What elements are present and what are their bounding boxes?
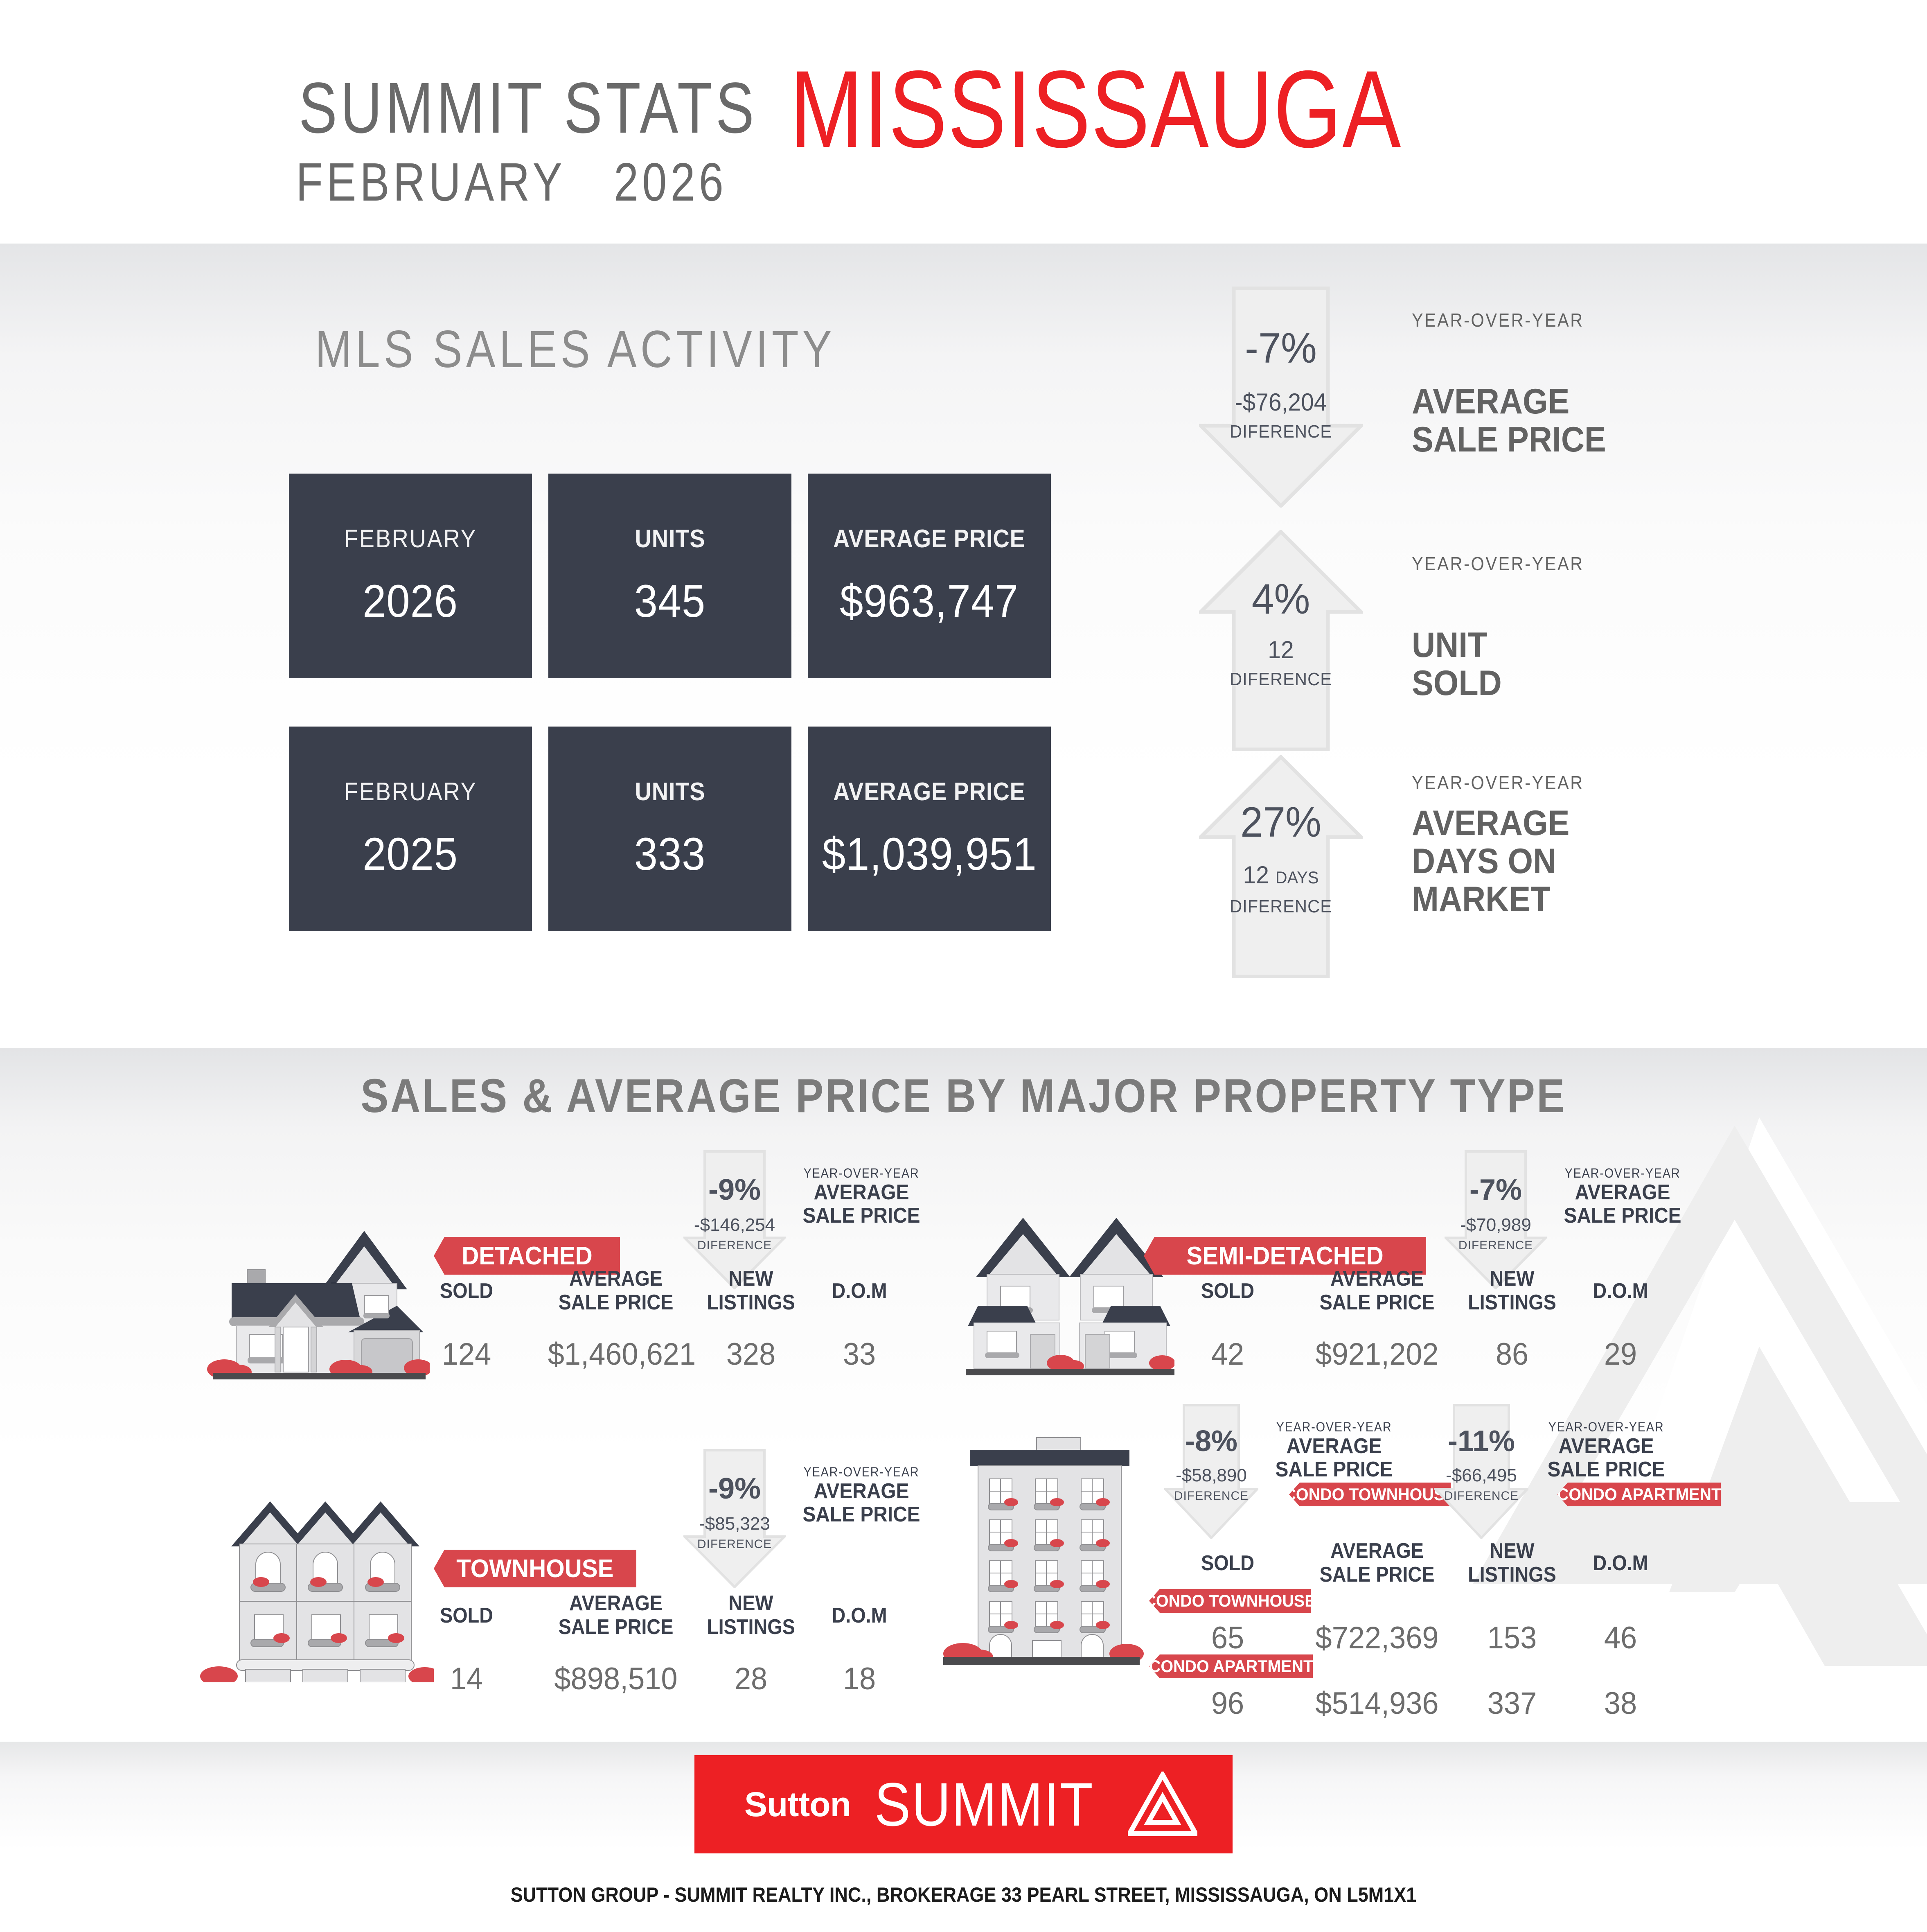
yoy-eyebrow-1: YEAR-OVER-YEAR	[1412, 553, 1584, 575]
yoy-diff-0: -$76,204	[1203, 388, 1359, 416]
type-arrow-diff-label-townhouse: DIFERENCE	[683, 1537, 786, 1551]
yoy-arrow-average-sale-price: -7% -$76,204 DIFERENCE	[1199, 287, 1363, 508]
yoy-pct-0: -7%	[1203, 324, 1359, 373]
type-arrow-diff-townhouse: -$85,323	[683, 1514, 786, 1534]
sutton-summit-logo-bar: Sutton SUMMIT	[694, 1755, 1233, 1853]
yoy-diff-2: 12	[1243, 861, 1269, 889]
yoy-title-2-line3: MARKET	[1412, 880, 1569, 919]
mls-units-value-0: 345	[634, 575, 706, 627]
mls-section-title: MLS SALES ACTIVITY	[315, 319, 831, 379]
type-arrow-title-l2-condo-townhouse: SALE PRICE	[1272, 1458, 1396, 1481]
type-arrow-title-l1-townhouse: AVERAGE	[799, 1480, 924, 1503]
value-dom-detached: 33	[817, 1336, 902, 1372]
page-title: SUMMIT STATS	[299, 72, 724, 145]
mls-price-value-0: $963,747	[840, 575, 1019, 627]
type-eyebrow-semi-detached: YEAR-OVER-YEAR	[1562, 1166, 1684, 1181]
yoy-title-0-line1: AVERAGE	[1412, 383, 1606, 421]
property-tag-condo-apartment-row: CONDO APARTMENT	[1149, 1654, 1313, 1678]
townhouse-icon	[188, 1453, 434, 1682]
yoy-arrow-unit-sold: 4% 12 DIFERENCE	[1199, 530, 1363, 751]
yoy-diff-label-0: DIFERENCE	[1203, 422, 1359, 442]
yoy-arrow-days-on-market: 27% 12 DAYS DIFERENCE	[1199, 755, 1363, 978]
type-arrow-title-l2-semi-detached: SALE PRICE	[1560, 1204, 1685, 1228]
type-arrow-title-l1-detached: AVERAGE	[799, 1181, 924, 1204]
mls-cell-price-2026: AVERAGE PRICE $963,747	[808, 474, 1051, 678]
col-header-new-listings-condo: NEWLISTINGS	[1463, 1539, 1562, 1587]
value-new-listings-semi-detached: 86	[1460, 1336, 1565, 1372]
property-tag-condo-townhouse-arrow: CONDO TOWNHOUSE	[1289, 1483, 1451, 1506]
mls-price-label-0: AVERAGE PRICE	[833, 524, 1025, 553]
mls-cell-units-2026: UNITS 345	[548, 474, 791, 678]
apartment-building-icon	[935, 1433, 1148, 1686]
mls-cell-month-2026: FEBRUARY 2026	[289, 474, 532, 678]
property-tag-condo-townhouse-row: CONDO TOWNHOUSE	[1149, 1589, 1311, 1613]
col-header-dom-detached: D.O.M	[819, 1279, 900, 1303]
mls-year-value-1: 2025	[363, 828, 458, 880]
col-header-avg-price-detached: AVERAGESALE PRICE	[552, 1267, 681, 1314]
city-title: MISSISSAUGA	[790, 54, 1648, 164]
detached-house-icon	[192, 1207, 430, 1379]
mls-cell-month-2025: FEBRUARY 2025	[289, 727, 532, 931]
col-header-sold-semi-detached: SOLD	[1191, 1279, 1264, 1303]
type-arrow-pct-townhouse: -9%	[683, 1472, 786, 1505]
type-eyebrow-condo-townhouse: YEAR-OVER-YEAR	[1273, 1420, 1395, 1435]
type-arrow-title-townhouse: YEAR-OVER-YEAR AVERAGE SALE PRICE	[794, 1465, 929, 1526]
type-arrow-title-condo-townhouse: YEAR-OVER-YEAR AVERAGE SALE PRICE	[1267, 1420, 1402, 1481]
type-arrow-diff-label-condo-townhouse: DIFERENCE	[1164, 1489, 1258, 1503]
yoy-diff-1: 12	[1203, 636, 1359, 664]
type-arrow-condo-townhouse: -8% -$58,890 DIFERENCE	[1164, 1404, 1258, 1539]
value-avg-price-semi-detached: $921,202	[1309, 1336, 1445, 1372]
yoy-title-1-line2: SOLD	[1412, 664, 1502, 702]
value-avg-price-townhouse: $898,510	[548, 1661, 684, 1697]
mls-price-value-1: $1,039,951	[822, 828, 1037, 880]
value-avg-price-detached: $1,460,621	[548, 1336, 684, 1372]
value-new-listings-townhouse: 28	[699, 1661, 804, 1697]
type-arrow-title-l1-condo-apartment: AVERAGE	[1544, 1435, 1668, 1458]
type-eyebrow-condo-apartment: YEAR-OVER-YEAR	[1546, 1420, 1667, 1435]
mls-year-value-0: 2026	[363, 575, 458, 627]
summit-mountain-logo-icon	[1128, 1772, 1197, 1837]
mls-units-value-1: 333	[634, 828, 706, 880]
logo-summit-text: SUMMIT	[874, 1769, 1094, 1840]
footer-address: SUTTON GROUP - SUMMIT REALTY INC., BROKE…	[96, 1883, 1830, 1907]
col-header-sold-townhouse: SOLD	[430, 1604, 503, 1627]
value-new-listings-condo-townhouse: 153	[1460, 1620, 1565, 1656]
yoy-diff-label-1: DIFERENCE	[1203, 669, 1359, 690]
yoy-title-2-line1: AVERAGE	[1412, 804, 1569, 842]
header-year: 2026	[614, 152, 727, 212]
yoy-eyebrow-2: YEAR-OVER-YEAR	[1412, 772, 1584, 794]
value-dom-townhouse: 18	[817, 1661, 902, 1697]
mls-units-label-1: UNITS	[635, 777, 705, 806]
yoy-title-1: UNIT SOLD	[1412, 626, 1502, 702]
yoy-title-1-line1: UNIT	[1412, 626, 1502, 664]
value-sold-condo-apartment: 96	[1189, 1686, 1267, 1721]
type-arrow-condo-apartment: -11% -$66,495 DIFERENCE	[1434, 1404, 1528, 1539]
col-header-dom-condo: D.O.M	[1580, 1551, 1661, 1575]
type-arrow-pct-semi-detached: -7%	[1445, 1173, 1547, 1207]
value-new-listings-condo-apartment: 337	[1460, 1686, 1565, 1721]
type-arrow-title-semi-detached: YEAR-OVER-YEAR AVERAGE SALE PRICE	[1555, 1166, 1690, 1228]
type-arrow-diff-label-condo-apartment: DIFERENCE	[1434, 1489, 1528, 1503]
yoy-pct-2: 27%	[1203, 798, 1359, 847]
type-eyebrow-detached: YEAR-OVER-YEAR	[801, 1166, 922, 1181]
mls-month-label-0: FEBRUARY	[344, 524, 477, 553]
yoy-title-2-line2: DAYS ON	[1412, 842, 1569, 880]
type-arrow-diff-label-semi-detached: DIFERENCE	[1445, 1239, 1547, 1253]
header-left: SUMMIT STATS FEBRUARY 2026	[246, 72, 778, 213]
type-arrow-diff-condo-townhouse: -$58,890	[1164, 1465, 1258, 1486]
mls-cell-units-2025: UNITS 333	[548, 727, 791, 931]
col-header-dom-semi-detached: D.O.M	[1580, 1279, 1661, 1303]
col-header-avg-price-semi-detached: AVERAGESALE PRICE	[1313, 1267, 1442, 1314]
type-arrow-pct-detached: -9%	[683, 1173, 786, 1207]
type-eyebrow-townhouse: YEAR-OVER-YEAR	[801, 1465, 922, 1480]
type-arrow-diff-label-detached: DIFERENCE	[683, 1239, 786, 1253]
header-period: FEBRUARY 2026	[293, 151, 730, 213]
type-arrow-diff-semi-detached: -$70,989	[1445, 1215, 1547, 1235]
col-header-avg-price-condo: AVERAGESALE PRICE	[1313, 1539, 1442, 1587]
semi-detached-house-icon	[966, 1199, 1174, 1379]
logo-sutton-text: Sutton	[744, 1785, 851, 1824]
type-arrow-title-detached: YEAR-OVER-YEAR AVERAGE SALE PRICE	[794, 1166, 929, 1228]
background-band-divider	[0, 1013, 1927, 1048]
col-header-dom-townhouse: D.O.M	[819, 1604, 900, 1627]
type-arrow-townhouse: -9% -$85,323 DIFERENCE	[683, 1449, 786, 1588]
type-arrow-title-l1-condo-townhouse: AVERAGE	[1272, 1435, 1396, 1458]
type-arrow-pct-condo-townhouse: -8%	[1164, 1424, 1258, 1458]
value-sold-condo-townhouse: 65	[1189, 1620, 1267, 1656]
yoy-title-0-line2: SALE PRICE	[1412, 421, 1606, 459]
col-header-sold-condo: SOLD	[1191, 1551, 1264, 1575]
type-arrow-title-condo-apartment: YEAR-OVER-YEAR AVERAGE SALE PRICE	[1539, 1420, 1674, 1481]
col-header-new-listings-townhouse: NEWLISTINGS	[701, 1591, 801, 1639]
mls-cell-price-2025: AVERAGE PRICE $1,039,951	[808, 727, 1051, 931]
value-sold-semi-detached: 42	[1189, 1336, 1267, 1372]
mls-units-label-0: UNITS	[635, 524, 705, 553]
type-arrow-diff-condo-apartment: -$66,495	[1434, 1465, 1528, 1486]
type-arrow-diff-detached: -$146,254	[683, 1215, 786, 1235]
value-sold-detached: 124	[428, 1336, 505, 1372]
yoy-diff-unit-2: DAYS	[1276, 868, 1319, 887]
mls-price-label-1: AVERAGE PRICE	[833, 777, 1025, 806]
value-avg-price-condo-apartment: $514,936	[1309, 1686, 1445, 1721]
col-header-new-listings-semi-detached: NEWLISTINGS	[1463, 1267, 1562, 1314]
yoy-title-2: AVERAGE DAYS ON MARKET	[1412, 804, 1569, 919]
type-arrow-pct-condo-apartment: -11%	[1434, 1424, 1528, 1458]
yoy-eyebrow-0: YEAR-OVER-YEAR	[1412, 309, 1584, 331]
type-arrow-title-l2-detached: SALE PRICE	[799, 1204, 924, 1228]
value-dom-condo-townhouse: 46	[1578, 1620, 1663, 1656]
col-header-sold-detached: SOLD	[430, 1279, 503, 1303]
yoy-diff-2-wrap: 12 DAYS	[1203, 861, 1359, 889]
yoy-diff-label-2: DIFERENCE	[1203, 896, 1359, 917]
property-tag-townhouse: TOWNHOUSE	[434, 1550, 636, 1587]
type-arrow-title-l1-semi-detached: AVERAGE	[1560, 1181, 1685, 1204]
value-new-listings-detached: 328	[699, 1336, 804, 1372]
col-header-new-listings-detached: NEWLISTINGS	[701, 1267, 801, 1314]
infographic-page: SUMMIT STATS FEBRUARY 2026 MISSISSAUGA M…	[0, 0, 1927, 1932]
type-arrow-title-l2-condo-apartment: SALE PRICE	[1544, 1458, 1668, 1481]
col-header-avg-price-townhouse: AVERAGESALE PRICE	[552, 1591, 681, 1639]
value-sold-townhouse: 14	[428, 1661, 505, 1697]
yoy-title-0: AVERAGE SALE PRICE	[1412, 383, 1606, 459]
value-dom-semi-detached: 29	[1578, 1336, 1663, 1372]
property-tag-condo-apartment-arrow: CONDO APARTMENT	[1557, 1483, 1721, 1506]
mls-month-label-1: FEBRUARY	[344, 777, 477, 806]
value-avg-price-condo-townhouse: $722,369	[1309, 1620, 1445, 1656]
type-arrow-title-l2-townhouse: SALE PRICE	[799, 1503, 924, 1526]
value-dom-condo-apartment: 38	[1578, 1686, 1663, 1721]
header-month: FEBRUARY	[296, 152, 566, 212]
property-type-section-title: SALES & AVERAGE PRICE BY MAJOR PROPERTY …	[116, 1068, 1812, 1123]
background-band-footer-gap	[0, 1721, 1927, 1742]
yoy-pct-1: 4%	[1203, 575, 1359, 624]
